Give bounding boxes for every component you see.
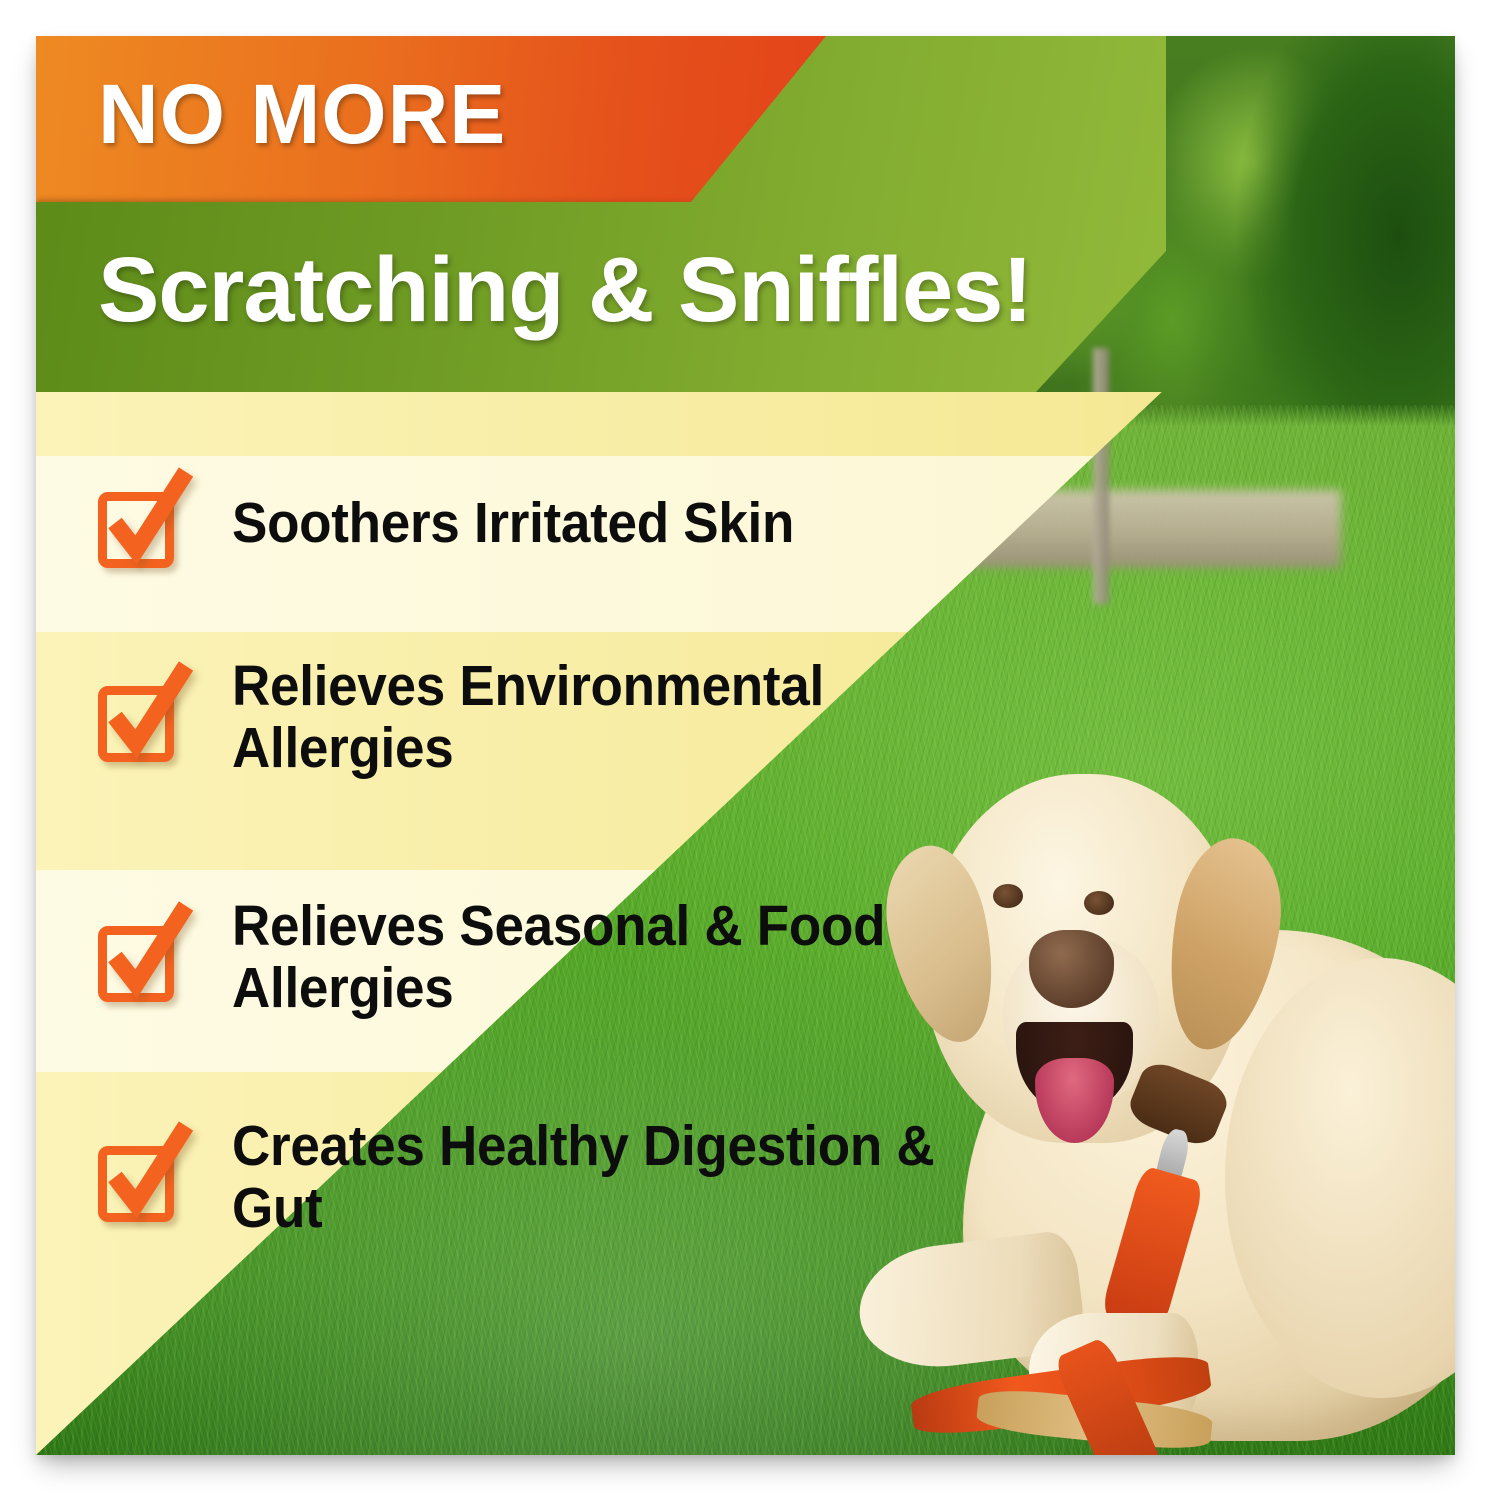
dog-nose xyxy=(1029,930,1114,1008)
benefit-label: Relieves Seasonal & Food Allergies xyxy=(232,896,980,1019)
benefit-label: Creates Healthy Digestion & Gut xyxy=(232,1116,980,1239)
check-mark-icon xyxy=(94,1130,190,1226)
benefit-label: Relieves Environmental Allergies xyxy=(232,656,980,779)
checkbox-checked-icon xyxy=(94,476,190,572)
checkbox-checked-icon xyxy=(94,1130,190,1226)
check-mark-icon xyxy=(94,476,190,572)
benefit-label: Soothers Irritated Skin xyxy=(232,493,980,555)
headline-top: NO MORE xyxy=(98,72,506,156)
stripe-1 xyxy=(36,392,1166,456)
check-mark-icon xyxy=(94,910,190,1006)
check-mark-icon xyxy=(94,670,190,766)
checkbox-checked-icon xyxy=(94,910,190,1006)
benefit-row-1: Soothers Irritated Skin xyxy=(36,476,1036,572)
promo-card: NO MORE Scratching & Sniffles! Soothers … xyxy=(36,36,1455,1455)
benefit-row-4: Creates Healthy Digestion & Gut xyxy=(36,1116,1036,1239)
benefit-row-2: Relieves Environmental Allergies xyxy=(36,656,1036,779)
checkbox-checked-icon xyxy=(94,670,190,766)
headline-main: Scratching & Sniffles! xyxy=(98,244,1032,336)
benefit-row-3: Relieves Seasonal & Food Allergies xyxy=(36,896,1036,1019)
dog-photo xyxy=(859,774,1455,1455)
